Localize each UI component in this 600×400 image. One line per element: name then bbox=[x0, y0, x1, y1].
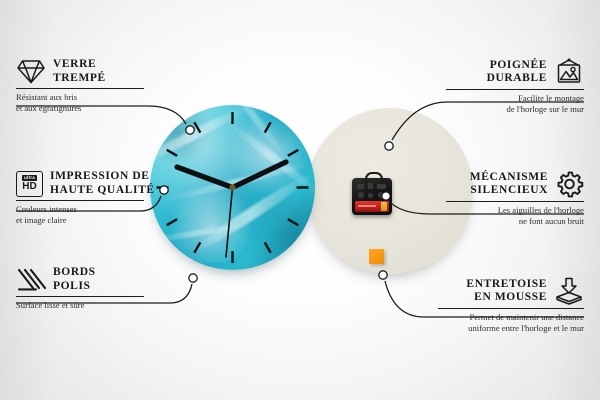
feature-bords-polis[interactable]: BORDS POLIS Surface lisse et sûre bbox=[16, 266, 144, 311]
feature-title-line2: TREMPÉ bbox=[53, 72, 106, 86]
feature-description: Surface lisse et sûre bbox=[16, 300, 144, 311]
feature-title-line1: BORDS bbox=[53, 266, 96, 280]
feature-entretoise-en-mousse[interactable]: ENTRETOISE EN MOUSSE Permet de maintenir… bbox=[438, 277, 584, 334]
feature-title-line1: VERRE bbox=[53, 58, 106, 72]
divider bbox=[16, 88, 144, 89]
foam-spacer-icon bbox=[554, 277, 584, 305]
diamond-icon bbox=[16, 58, 46, 85]
hotspot-poignee[interactable] bbox=[385, 142, 393, 150]
ultra-hd-icon: ultra HD bbox=[16, 171, 43, 197]
gear-icon bbox=[555, 170, 584, 198]
feature-title-line2: EN MOUSSE bbox=[466, 291, 547, 305]
feature-mecanisme-silencieux[interactable]: MÉCANISME SILENCIEUX Les aiguilles de l'… bbox=[446, 170, 584, 227]
feature-title-line1: IMPRESSION DE bbox=[50, 170, 155, 184]
feature-poignee-durable[interactable]: POIGNÉE DURABLE Facilite le montage de l… bbox=[446, 58, 584, 115]
hotspot-impression[interactable] bbox=[160, 186, 168, 194]
feature-verre-trempe[interactable]: VERRE TREMPÉ Résistant aux bris et aux é… bbox=[16, 58, 144, 114]
hotspot-entretoise[interactable] bbox=[379, 271, 387, 279]
feature-description: Les aiguilles de l'horloge ne font aucun… bbox=[446, 205, 584, 226]
feature-title-line2: HAUTE QUALITÉ bbox=[50, 184, 155, 198]
feature-title-line2: DURABLE bbox=[487, 72, 547, 86]
feature-description: Résistant aux bris et aux égratignures bbox=[16, 92, 144, 113]
hotspot-mecanisme[interactable] bbox=[382, 192, 390, 200]
polished-edges-icon bbox=[16, 267, 46, 293]
infographic-canvas: VERRE TREMPÉ Résistant aux bris et aux é… bbox=[0, 0, 600, 400]
feature-title-line1: MÉCANISME bbox=[470, 171, 548, 185]
divider bbox=[16, 296, 144, 297]
feature-title-line1: ENTRETOISE bbox=[466, 278, 547, 292]
hanging-frame-icon bbox=[554, 58, 584, 86]
hotspot-verre-trempe[interactable] bbox=[186, 126, 194, 134]
feature-title-line2: SILENCIEUX bbox=[470, 184, 548, 198]
hotspot-bords-polis[interactable] bbox=[189, 274, 197, 282]
divider bbox=[16, 200, 144, 201]
divider bbox=[438, 308, 584, 309]
feature-title-line1: POIGNÉE bbox=[487, 59, 547, 73]
feature-impression-haute-qualite[interactable]: ultra HD IMPRESSION DE HAUTE QUALITÉ Cou… bbox=[16, 170, 144, 226]
feature-title-line2: POLIS bbox=[53, 280, 96, 294]
feature-description: Couleurs intenses et image claire bbox=[16, 204, 144, 225]
feature-description: Facilite le montage de l'horloge sur le … bbox=[446, 93, 584, 114]
divider bbox=[446, 89, 584, 90]
divider bbox=[446, 201, 584, 202]
feature-description: Permet de maintenir une distance uniform… bbox=[438, 312, 584, 333]
ultra-hd-icon-main: HD bbox=[22, 182, 36, 192]
